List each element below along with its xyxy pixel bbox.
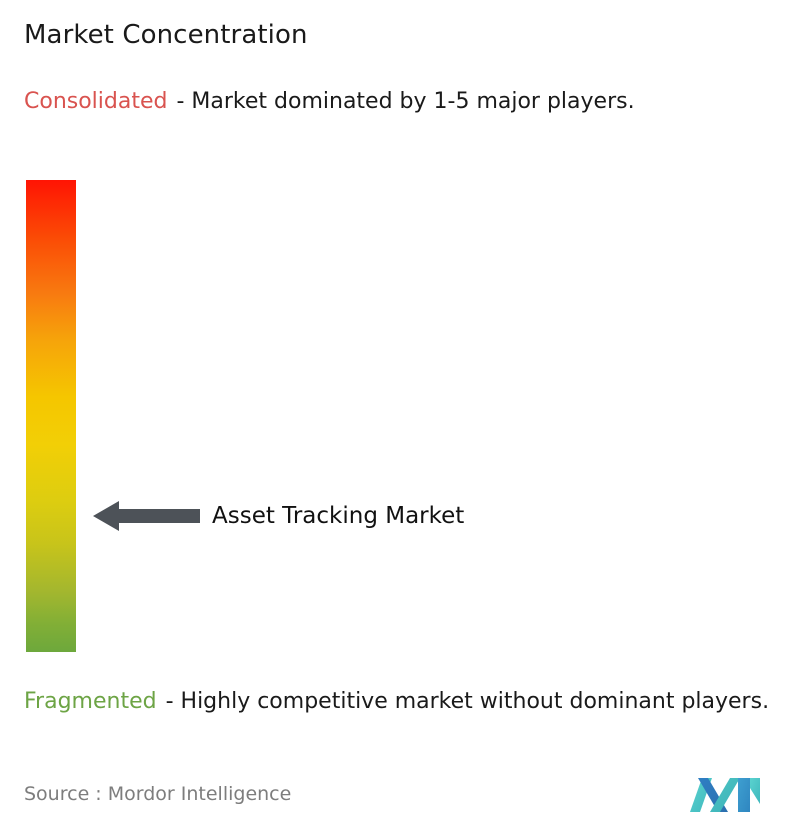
page-title: Market Concentration <box>24 20 308 50</box>
concentration-gradient-bar <box>26 180 76 652</box>
arrow-left-icon <box>93 500 200 532</box>
legend-description-fragmented: - Highly competitive market without domi… <box>166 689 769 714</box>
mordor-intelligence-logo <box>690 774 762 814</box>
market-pointer-label: Asset Tracking Market <box>212 503 464 529</box>
market-pointer: Asset Tracking Market <box>93 500 464 532</box>
legend-term-fragmented: Fragmented <box>24 689 157 714</box>
legend-fragmented: Fragmented- Highly competitive market wi… <box>24 686 788 718</box>
legend-description-consolidated: - Market dominated by 1-5 major players. <box>176 89 634 114</box>
source-attribution: Source : Mordor Intelligence <box>24 783 291 805</box>
legend-term-consolidated: Consolidated <box>24 89 167 114</box>
legend-consolidated: Consolidated- Market dominated by 1-5 ma… <box>24 86 776 118</box>
